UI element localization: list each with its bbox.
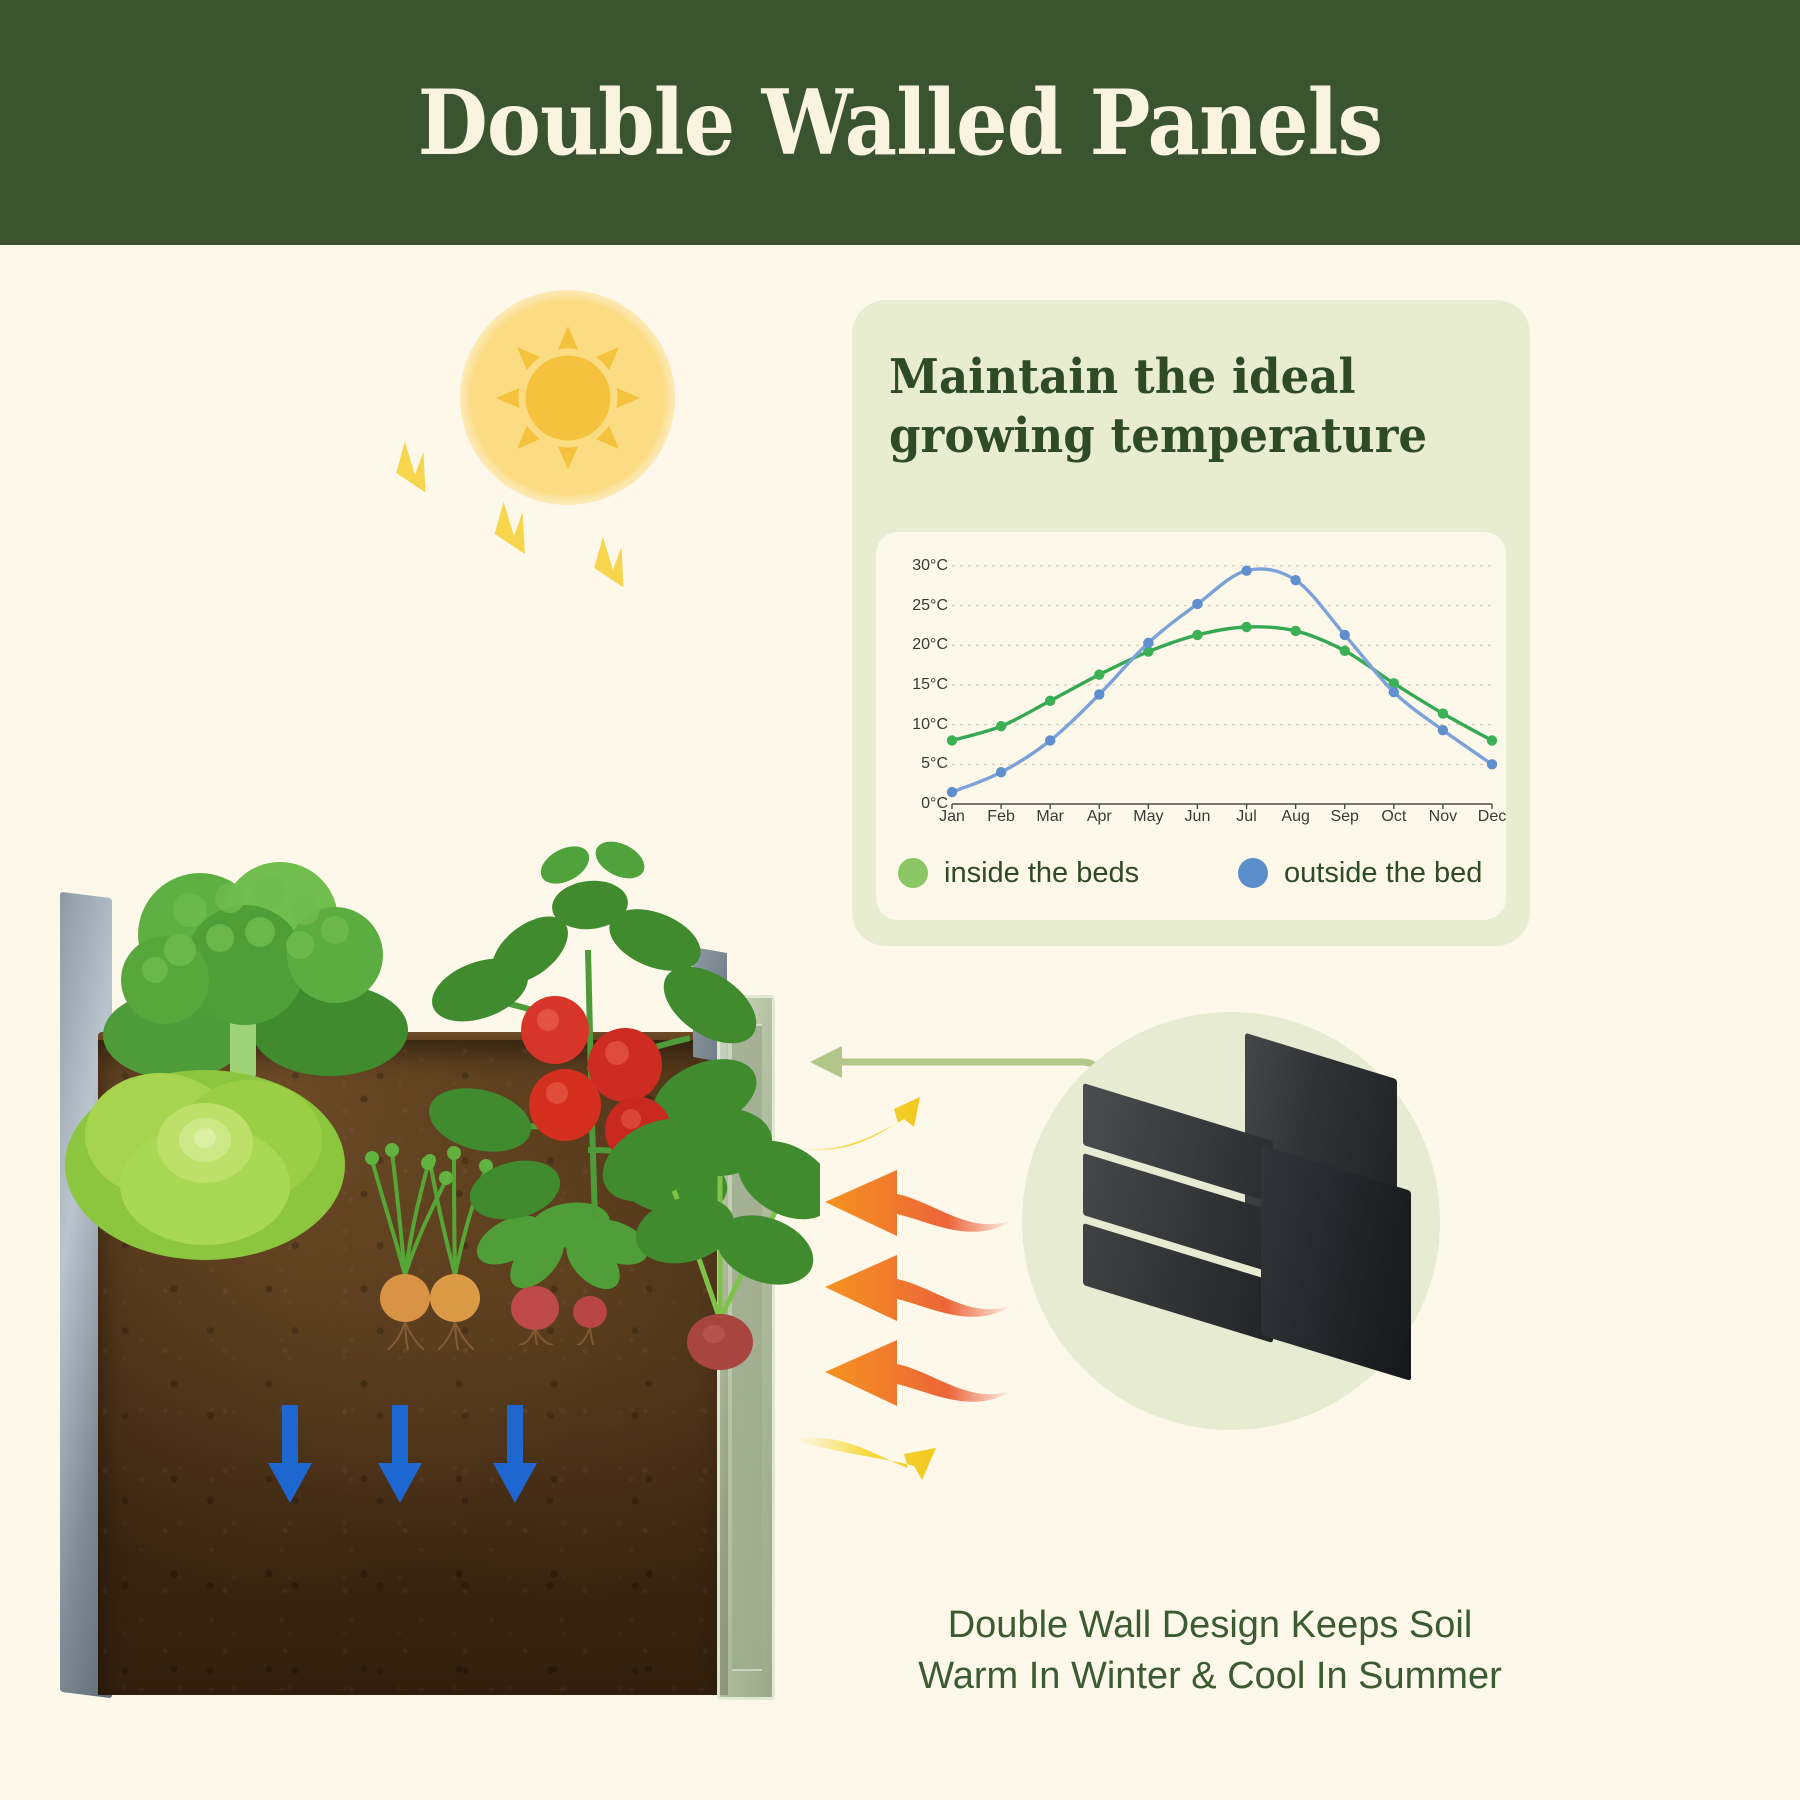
panel-detail-caption: Double Wall Design Keeps Soil Warm In Wi…: [860, 1600, 1560, 1703]
sunlight-arrow-icon: [578, 535, 648, 605]
legend-label-inside: inside the beds: [944, 857, 1139, 890]
legend-item-inside[interactable]: inside the beds: [898, 857, 1228, 890]
caption-line-1: Double Wall Design Keeps Soil: [860, 1600, 1560, 1651]
heat-arrow-orange-icon: [785, 1310, 1015, 1420]
raised-garden-bed: [60, 800, 775, 1730]
legend-item-outside[interactable]: outside the bed: [1238, 857, 1482, 890]
x-tick-label: Dec: [1478, 808, 1506, 826]
double-wall-panel-illustration: [1065, 1050, 1405, 1380]
garden-bed-illustration: [0, 245, 900, 1800]
caption-line-2: Warm In Winter & Cool In Summer: [860, 1651, 1560, 1702]
x-tick-label: Sep: [1330, 808, 1358, 826]
legend-label-outside: outside the bed: [1284, 857, 1482, 890]
cool-air-arrow-icon: [260, 1405, 320, 1505]
x-tick-label: May: [1133, 808, 1163, 826]
legend-dot-inside: [898, 858, 928, 888]
temperature-chart-card: Maintain the ideal growing temperature 0…: [852, 300, 1530, 946]
cool-air-arrow-icon: [370, 1405, 430, 1505]
page-title: Double Walled Panels: [418, 70, 1383, 176]
cool-air-arrow-icon: [485, 1405, 545, 1505]
legend-dot-outside: [1238, 858, 1268, 888]
heat-arrow-yellow-icon: [790, 1410, 970, 1500]
sunlight-arrow-icon: [478, 500, 550, 572]
sun-core: [525, 355, 610, 440]
sun-icon: [460, 290, 675, 505]
x-tick-label: Jul: [1236, 808, 1256, 826]
line-chart: [876, 532, 1506, 832]
x-tick-label: Nov: [1429, 808, 1457, 826]
lettuce-plant: [60, 1035, 350, 1265]
x-tick-label: Mar: [1036, 808, 1064, 826]
sunlight-arrow-icon: [380, 440, 450, 510]
chart-legend: inside the beds outside the bed: [898, 850, 1498, 896]
page-header: Double Walled Panels: [0, 0, 1800, 245]
x-tick-label: Oct: [1381, 808, 1406, 826]
x-tick-label: Apr: [1087, 808, 1112, 826]
x-axis-tick-labels: JanFebMarAprMayJunJulAugSepOctNovDec: [952, 808, 1492, 838]
chart-plot-container: 0°C5°C10°C15°C20°C25°C30°C JanFebMarAprM…: [876, 532, 1506, 920]
chart-heading-line-1: Maintain the ideal: [889, 348, 1453, 407]
chart-heading: Maintain the ideal growing temperature: [889, 348, 1453, 465]
x-tick-label: Jan: [939, 808, 965, 826]
x-tick-label: Jun: [1185, 808, 1211, 826]
x-tick-label: Feb: [987, 808, 1015, 826]
chart-heading-line-2: growing temperature: [889, 407, 1453, 466]
x-tick-label: Aug: [1281, 808, 1309, 826]
